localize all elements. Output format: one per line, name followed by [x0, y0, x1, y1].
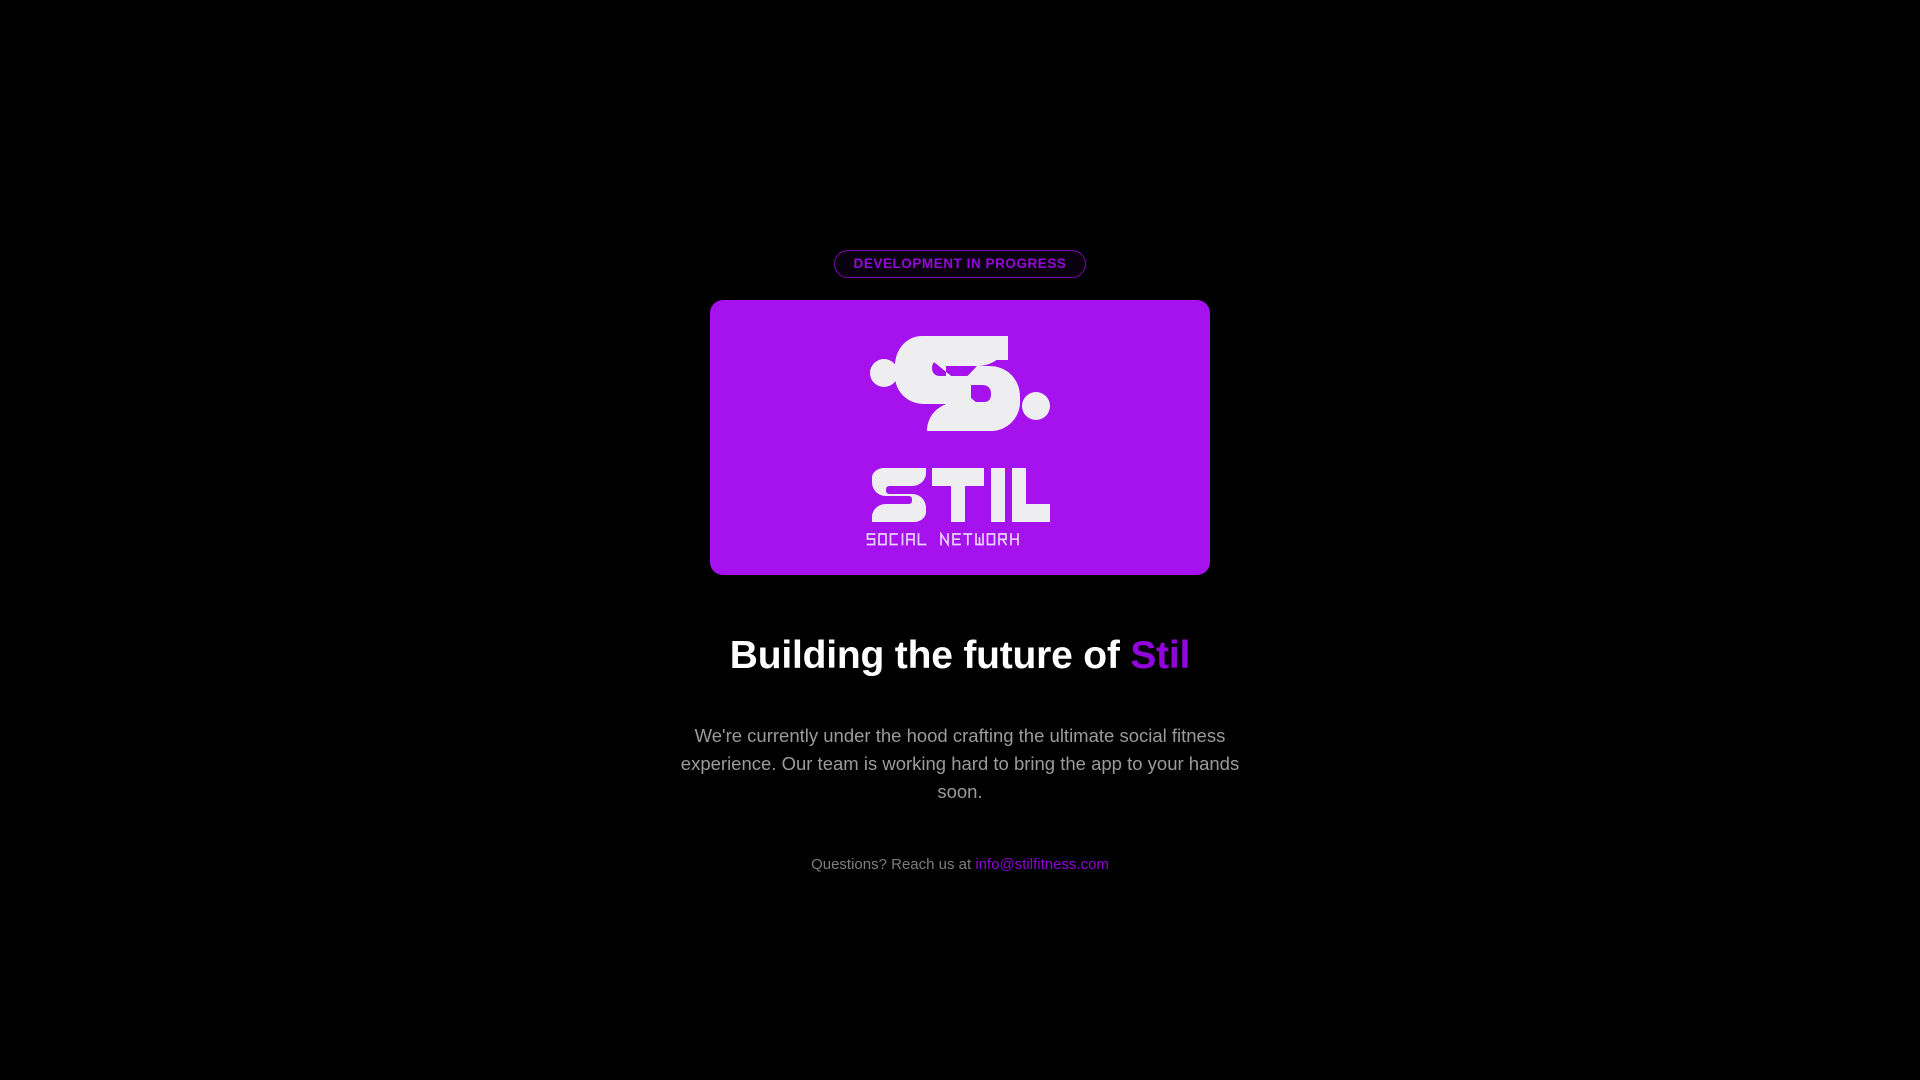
page-description: We're currently under the hood crafting … [660, 722, 1260, 806]
stil-s-mark-icon [867, 328, 1053, 440]
brand-card [710, 300, 1210, 575]
contact-line: Questions? Reach us at info@stilfitness.… [811, 855, 1109, 875]
status-badge: DEVELOPMENT IN PROGRESS [834, 250, 1087, 278]
headline-accent: Stil [1130, 634, 1190, 677]
coming-soon-page: DEVELOPMENT IN PROGRESS [0, 0, 1920, 1080]
contact-email-link[interactable]: info@stilfitness.com [975, 856, 1109, 873]
headline-lead: Building the future of [730, 634, 1131, 677]
brand-tagline [865, 531, 1055, 548]
contact-prefix: Questions? Reach us at [811, 856, 975, 873]
brand-wordmark [870, 468, 1050, 522]
page-title: Building the future of Stil [730, 635, 1190, 678]
